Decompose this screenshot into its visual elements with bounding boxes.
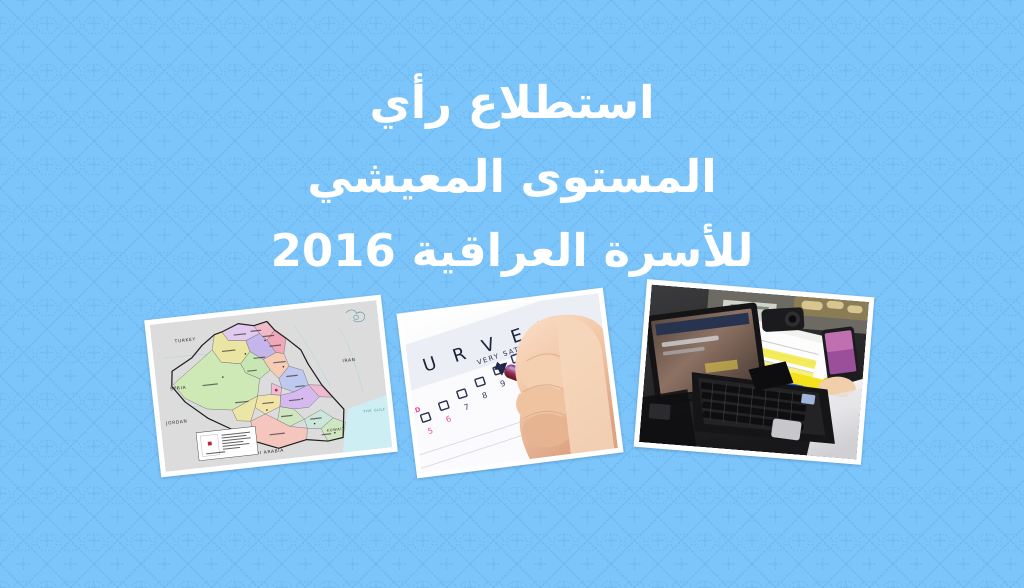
photo-laptop-inner <box>639 285 869 460</box>
survey-form-graphic: S U R V E Y VERY SATISFIED TISFIED <box>402 293 618 473</box>
title-line-3: للأسرة العراقية 2016 <box>0 214 1024 288</box>
photo-iraq-map-caption: Political map of Iraq showing governorat… <box>166 472 167 473</box>
photo-survey-form: S U R V E Y VERY SATISFIED TISFIED <box>396 288 623 479</box>
photo-laptop-data-entry: Open laptop on a desk with papers, a mob… <box>634 279 875 465</box>
photo-laptop-caption: Open laptop on a desk with papers, a mob… <box>639 442 640 443</box>
photo-iraq-map-inner: TURKEY SYRIA JORDAN IRAN KUWAIT SAUDI AR… <box>150 300 393 472</box>
photo-iraq-governorates-map: TURKEY SYRIA JORDAN IRAN KUWAIT SAUDI AR… <box>144 295 398 478</box>
iraq-map-graphic: TURKEY SYRIA JORDAN IRAN KUWAIT SAUDI AR… <box>150 300 393 472</box>
svg-text:4: 4 <box>408 438 416 448</box>
photo-survey-inner: S U R V E Y VERY SATISFIED TISFIED <box>402 293 618 473</box>
title-line-1: استطلاع رأي <box>0 66 1024 140</box>
laptop-desk-graphic <box>639 285 869 460</box>
survey-cover-page: استطلاع رأي المستوى المعيشي للأسرة العرا… <box>0 0 1024 588</box>
photo-survey-caption: Hand holding a pen filling in a printed … <box>422 473 423 474</box>
title-line-2: المستوى المعيشي <box>0 140 1024 214</box>
page-title: استطلاع رأي المستوى المعيشي للأسرة العرا… <box>0 66 1024 288</box>
